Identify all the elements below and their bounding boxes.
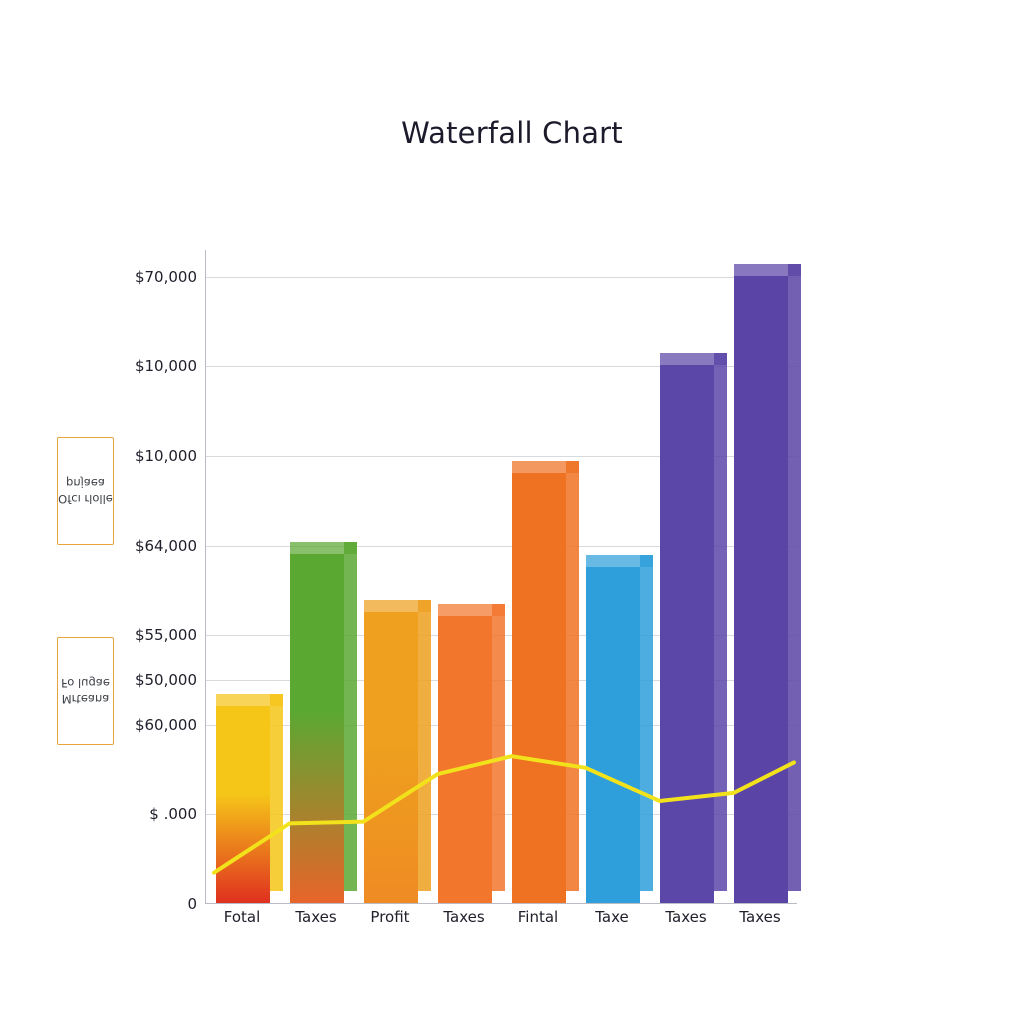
bar-face bbox=[290, 554, 345, 903]
bar[interactable] bbox=[364, 612, 419, 903]
x-axis-tick-label: Taxes bbox=[739, 908, 780, 926]
page-title: Waterfall Chart bbox=[0, 116, 1024, 150]
bar-face bbox=[438, 616, 493, 903]
x-axis-labels: FotalTaxesProfitTaxesFintalTaxeTaxesTaxe… bbox=[205, 908, 797, 934]
bar[interactable] bbox=[660, 365, 715, 903]
x-axis-tick-label: Profit bbox=[370, 908, 409, 926]
bar-side bbox=[788, 264, 801, 891]
bar-face bbox=[512, 473, 567, 903]
y-axis-tick-label: $50,000 bbox=[135, 671, 206, 689]
x-axis-tick-label: Fintal bbox=[518, 908, 558, 926]
bar[interactable] bbox=[512, 473, 567, 903]
bar-side bbox=[566, 461, 579, 891]
bar[interactable] bbox=[290, 554, 345, 903]
x-axis-tick-label: Taxes bbox=[443, 908, 484, 926]
annotation-box-upper: Ofcı rlolle pnjaea bbox=[57, 437, 114, 545]
x-axis-tick-label: Taxes bbox=[665, 908, 706, 926]
y-axis-tick-label: $70,000 bbox=[135, 268, 206, 286]
bar[interactable] bbox=[216, 706, 271, 903]
bar-top bbox=[512, 461, 580, 473]
bar-top bbox=[290, 542, 358, 554]
x-axis-tick-label: Taxes bbox=[295, 908, 336, 926]
x-axis-tick-label: Taxe bbox=[595, 908, 629, 926]
bar-face bbox=[586, 567, 641, 903]
bar[interactable] bbox=[734, 276, 789, 903]
bar-top bbox=[364, 600, 432, 612]
bar-face bbox=[216, 706, 271, 903]
y-axis-tick-label: $10,000 bbox=[135, 447, 206, 465]
bar-top bbox=[586, 555, 654, 567]
bar-face bbox=[660, 365, 715, 903]
y-axis-tick-label: $10,000 bbox=[135, 357, 206, 375]
bar-side bbox=[418, 600, 431, 891]
y-axis-tick-label: $64,000 bbox=[135, 537, 206, 555]
bar-series bbox=[206, 250, 797, 903]
annotation-lower-text: Mrteana Fo lugae bbox=[58, 675, 113, 706]
x-axis-tick-label: Fotal bbox=[224, 908, 261, 926]
plot-area: 0$ .000$60,000$50,000$55,000$64,000$10,0… bbox=[205, 250, 797, 904]
bar[interactable] bbox=[438, 616, 493, 903]
bar-face bbox=[364, 612, 419, 903]
bar-top bbox=[216, 694, 284, 706]
bar-top bbox=[438, 604, 506, 616]
annotation-upper-text: Ofcı rlolle pnjaea bbox=[58, 475, 113, 506]
bar-top bbox=[734, 264, 802, 276]
bar-side bbox=[344, 542, 357, 891]
bar-side bbox=[492, 604, 505, 891]
bar[interactable] bbox=[586, 567, 641, 903]
y-axis-tick-label: $55,000 bbox=[135, 626, 206, 644]
chart-canvas: Waterfall Chart Ofcı rlolle pnjaea Mrtea… bbox=[0, 0, 1024, 1024]
y-axis-tick-label: $ .000 bbox=[149, 805, 206, 823]
bar-side bbox=[270, 694, 283, 891]
bar-face bbox=[734, 276, 789, 903]
y-axis-tick-label: $60,000 bbox=[135, 716, 206, 734]
annotation-box-lower: Mrteana Fo lugae bbox=[57, 637, 114, 745]
bar-top bbox=[660, 353, 728, 365]
bar-side bbox=[714, 353, 727, 891]
y-axis-tick-label: 0 bbox=[187, 895, 206, 913]
bar-side bbox=[640, 555, 653, 891]
